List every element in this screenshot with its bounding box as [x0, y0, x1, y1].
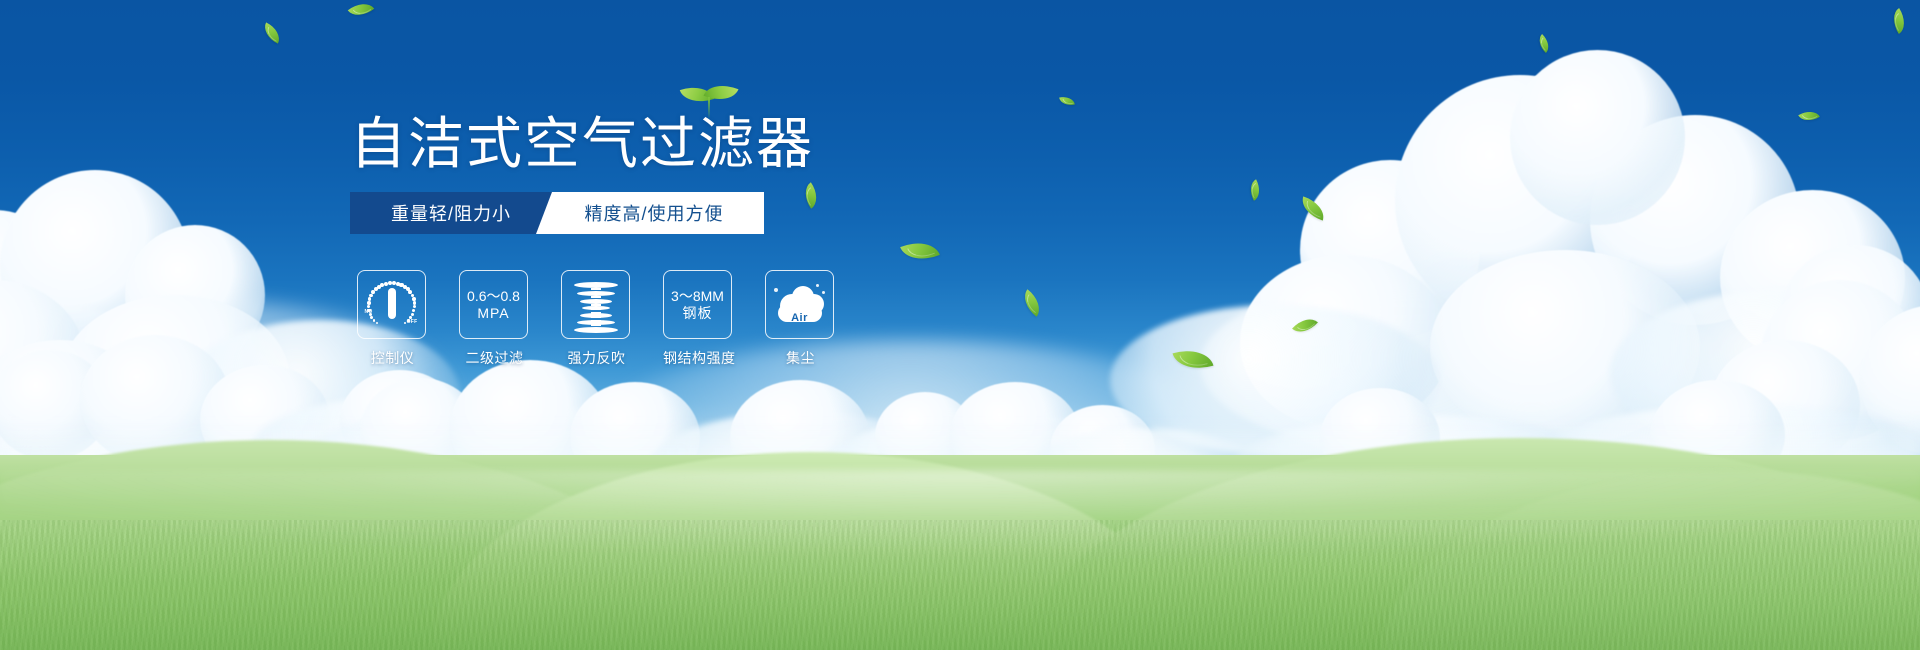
gauge-icon: NO OFF: [365, 279, 419, 331]
feature-label: 集尘: [765, 348, 836, 368]
feature-item-reverse-blow[interactable]: 强力反吹: [561, 270, 632, 368]
air-label: Air: [772, 312, 828, 324]
badge-precision-convenience[interactable]: 精度高/使用方便: [536, 192, 764, 234]
steel-thickness: 3～8MM: [671, 288, 724, 305]
badge-group: 重量轻/阻力小 精度高/使用方便: [350, 192, 764, 234]
page-title: 自洁式空气过滤器: [350, 113, 814, 175]
reverse-blow-coil-icon: [573, 280, 619, 330]
pressure-range: 0.6～0.8: [467, 288, 520, 305]
feature-box: Air: [765, 270, 834, 339]
feature-label: 强力反吹: [561, 348, 632, 368]
badge-weight-resistance[interactable]: 重量轻/阻力小: [350, 192, 552, 234]
feature-label: 控制仪: [357, 348, 428, 368]
feature-item-controller[interactable]: NO OFF 控制仪: [357, 270, 428, 368]
air-cloud-icon: Air: [772, 282, 828, 328]
pressure-unit: MPA: [467, 305, 520, 322]
feature-box: 3～8MM 钢板: [663, 270, 732, 339]
feature-item-steel-strength[interactable]: 3～8MM 钢板 钢结构强度: [663, 270, 734, 368]
pressure-text-icon: 0.6～0.8 MPA: [467, 288, 520, 322]
feature-item-dust-collection[interactable]: Air 集尘: [765, 270, 836, 368]
gauge-max-label: OFF: [407, 319, 418, 325]
feature-box: NO OFF: [357, 270, 426, 339]
steel-material: 钢板: [671, 305, 724, 322]
feature-list: NO OFF 控制仪 0.6～0.8 MPA 二级过滤: [357, 270, 836, 368]
title-block: 自洁式空气过滤器: [350, 113, 814, 175]
banner-content: 自洁式空气过滤器 重量轻/阻力小 精度高/使用方便 NO OFF 控制仪: [0, 0, 1920, 650]
feature-label: 二级过滤: [459, 348, 530, 368]
feature-item-secondary-filter[interactable]: 0.6～0.8 MPA 二级过滤: [459, 270, 530, 368]
hero-banner: 自洁式空气过滤器 重量轻/阻力小 精度高/使用方便 NO OFF 控制仪: [0, 0, 1920, 650]
leaf-sprout-icon: [680, 83, 740, 125]
feature-box: 0.6～0.8 MPA: [459, 270, 528, 339]
feature-box: [561, 270, 630, 339]
steel-plate-text-icon: 3～8MM 钢板: [671, 288, 724, 322]
gauge-min-label: NO: [365, 309, 373, 315]
feature-label: 钢结构强度: [663, 348, 734, 368]
